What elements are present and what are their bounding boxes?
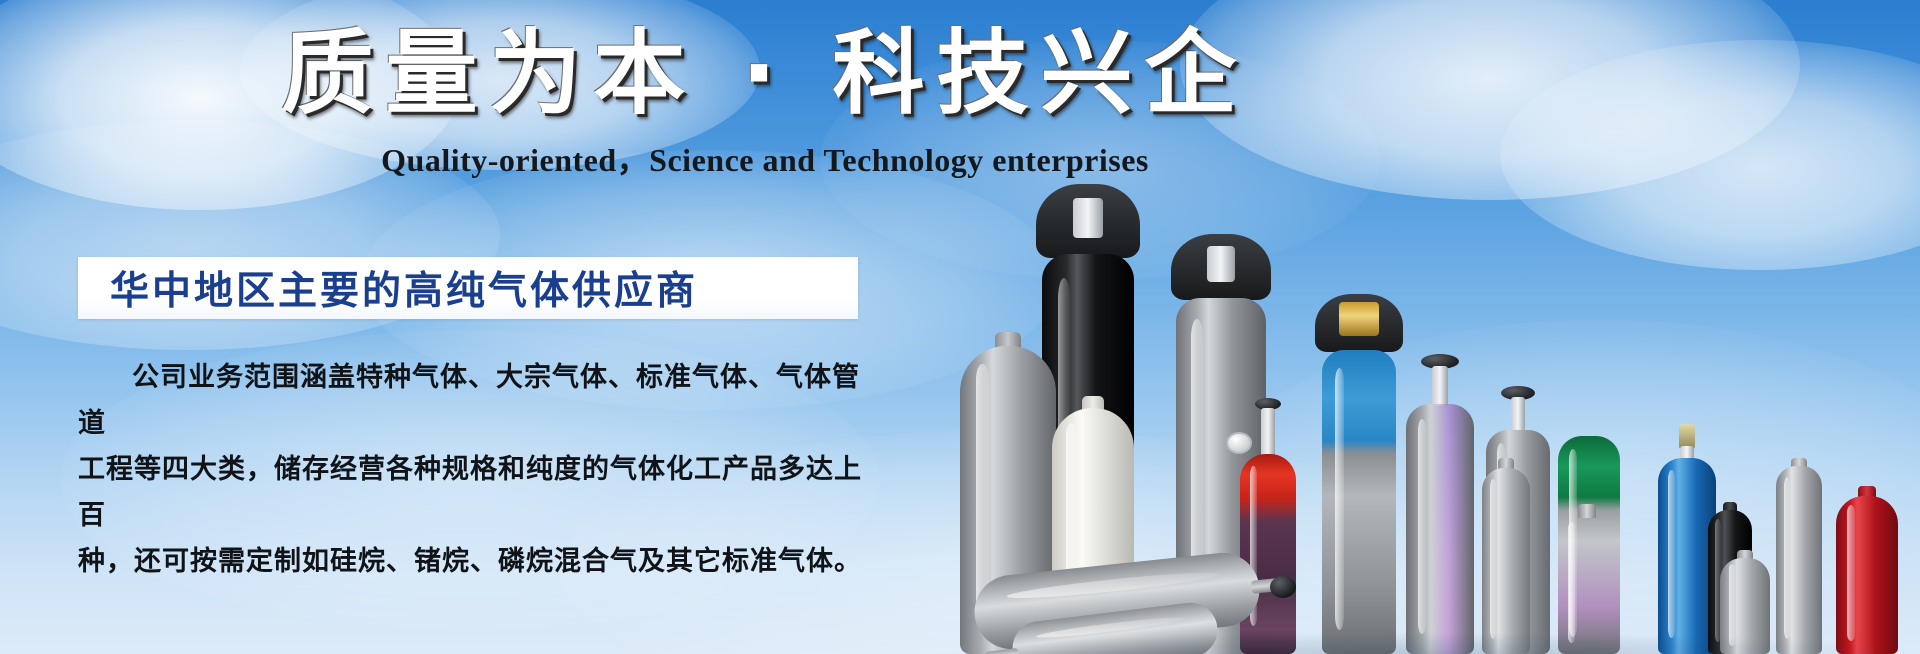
paragraph-line-2: 工程等四大类，储存经营各种规格和纯度的气体化工产品多达上百	[78, 447, 868, 539]
aluminium-cylinder	[1482, 458, 1530, 654]
red-cylinder	[1836, 486, 1898, 654]
cylinder-valve	[1207, 246, 1235, 282]
pressure-gauge-icon	[1226, 432, 1252, 454]
cylinder-highlight	[1668, 470, 1676, 639]
cylinder-body	[1406, 404, 1474, 654]
tall-aluminium-cylinder	[1776, 458, 1822, 654]
grey-valve-cylinder	[1406, 354, 1474, 654]
banner-paragraph: 公司业务范围涵盖特种气体、大宗气体、标准气体、气体管道 工程等四大类，储存经营各…	[78, 355, 868, 585]
cylinder-valve	[1432, 366, 1448, 406]
highlight-box: 华中地区主要的高纯气体供应商	[78, 257, 858, 319]
cylinder-highlight	[1335, 368, 1345, 629]
paragraph-line-3: 种，还可按需定制如硅烷、锗烷、磷烷混合气及其它标准气体。	[78, 539, 868, 585]
gas-cylinder-collection	[940, 0, 1920, 654]
tank-highlight	[1007, 568, 1219, 602]
cylinder-highlight	[1847, 505, 1855, 641]
cylinder-highlight	[1490, 479, 1496, 639]
cylinder-highlight	[1418, 419, 1427, 634]
paragraph-line-1: 公司业务范围涵盖特种气体、大宗气体、标准气体、气体管道	[78, 355, 868, 447]
cylinder-body	[1322, 350, 1396, 654]
blue-grey-cylinder	[1322, 294, 1396, 654]
cylinder-valve	[1511, 397, 1525, 431]
brass-valve-icon	[1339, 302, 1379, 336]
highlight-box-text: 华中地区主要的高纯气体供应商	[78, 260, 698, 316]
cylinder-highlight	[1568, 522, 1576, 642]
cylinder-valve	[1261, 408, 1275, 458]
regulator-knob-icon	[1270, 576, 1296, 598]
cylinder-highlight	[1784, 477, 1790, 639]
cylinder-ground-shadow	[940, 632, 1920, 654]
cylinder-body	[1836, 496, 1898, 654]
cylinder-valve	[1073, 198, 1103, 238]
cylinder-body	[1776, 466, 1822, 654]
cylinder-body	[1240, 454, 1296, 654]
hero-banner: 质量为本 · 科技兴企 Quality-oriented，Science and…	[0, 0, 1920, 654]
cylinder-body	[1482, 468, 1530, 654]
